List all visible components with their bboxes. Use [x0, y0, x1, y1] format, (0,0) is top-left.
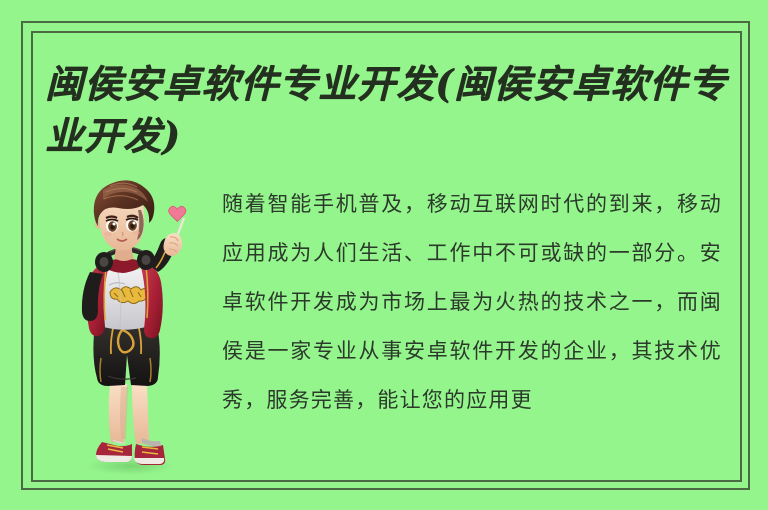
- character-tshirt: [100, 268, 150, 330]
- chibi-boy-character-illustration: [58, 172, 208, 477]
- character-head: [94, 180, 155, 250]
- lollipop-stick: [178, 218, 184, 234]
- character-hand-with-lollipop: [164, 206, 186, 256]
- article-paragraph: 随着智能手机普及，移动互联网时代的到来，移动应用成为人们生活、工作中不可或缺的一…: [222, 180, 722, 425]
- character-svg: [58, 172, 208, 477]
- page-title: 闽侯安卓软件专业开发(闽侯安卓软件专业开发): [45, 58, 735, 162]
- content-area: 随着智能手机普及，移动互联网时代的到来，移动应用成为人们生活、工作中不可或缺的一…: [40, 172, 728, 478]
- character-legs: [109, 384, 149, 444]
- character-eye-left: [106, 220, 118, 233]
- character-eye-right: [126, 219, 138, 232]
- poster-root: 闽侯安卓软件专业开发(闽侯安卓软件专业开发): [0, 0, 768, 510]
